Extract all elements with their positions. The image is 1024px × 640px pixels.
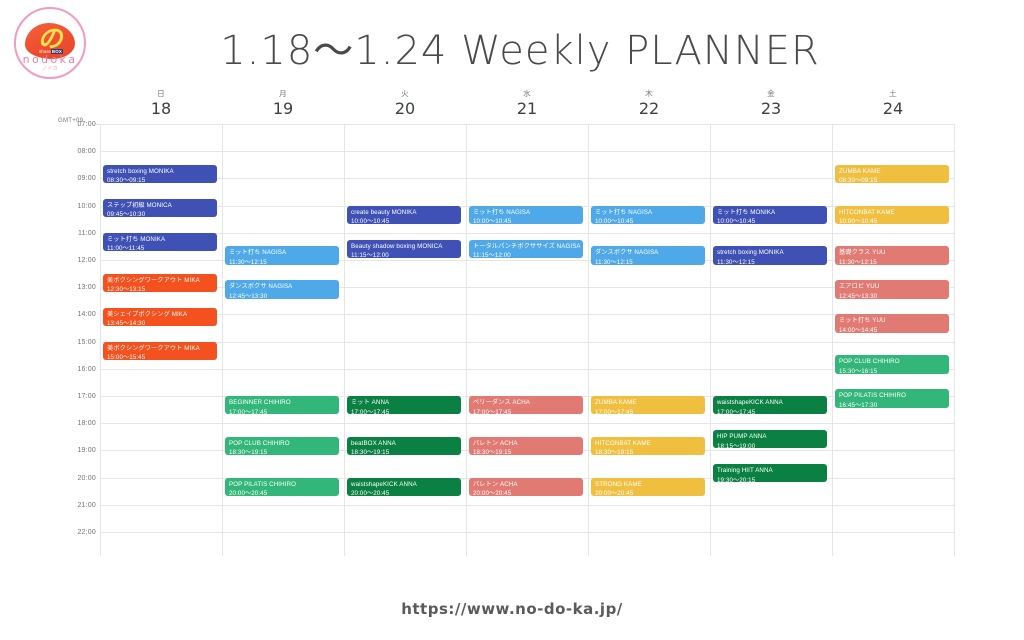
- calendar-event[interactable]: 美シェイプボクシング MIKA13:45〜14:30: [103, 308, 217, 326]
- day-header-row: 日18月19火20水21木22金23土24: [0, 88, 1024, 124]
- calendar-event[interactable]: ZUMBA KAME17:00〜17:45: [591, 396, 705, 414]
- calendar-event[interactable]: ミット ANNA17:00〜17:45: [347, 396, 461, 414]
- hour-label: 10:00: [52, 203, 96, 211]
- column-gridline: [222, 124, 223, 556]
- hour-label: 16:00: [52, 366, 96, 374]
- calendar-event[interactable]: create beauty MONIKA10:00〜10:45: [347, 206, 461, 224]
- event-time: 20:00〜20:45: [351, 489, 458, 496]
- event-title: Training HIIT ANNA: [717, 466, 824, 476]
- calendar-event[interactable]: POP CLUB CHIHIRO18:30〜19:15: [225, 437, 339, 455]
- calendar-event[interactable]: トータルパンチボクササイズ NAGISA11:15〜12:00: [469, 240, 583, 258]
- day-header[interactable]: 火20: [344, 88, 466, 119]
- day-number-label: 19: [222, 99, 344, 119]
- hour-gridline: [100, 314, 955, 315]
- event-title: beatBOX ANNA: [351, 439, 458, 449]
- hour-label: 13:00: [52, 284, 96, 292]
- hour-label: 07:00: [52, 121, 96, 129]
- event-title: ステップ初級 MONICA: [107, 201, 214, 211]
- event-title: 美シェイプボクシング MIKA: [107, 310, 214, 320]
- hour-label: 22:00: [52, 529, 96, 537]
- calendar-event[interactable]: ミット打ち NAGISA10:00〜10:45: [469, 206, 583, 224]
- calendar-event[interactable]: ダンスボクサ NAGISA12:45〜13:30: [225, 280, 339, 298]
- event-title: POP PILATIS CHIHIRO: [229, 480, 336, 490]
- calendar-event[interactable]: 美ボクシングワークアウト MIKA15:00〜15:45: [103, 342, 217, 360]
- event-title: バレトン ACHA: [473, 439, 580, 449]
- event-time: 18:30〜19:15: [351, 448, 458, 455]
- event-title: ダンスボクサ NAGISA: [595, 248, 702, 258]
- event-title: ミット打ち MONIKA: [717, 208, 824, 218]
- calendar-event[interactable]: BEGINNER CHIHIRO17:00〜17:45: [225, 396, 339, 414]
- calendar-event[interactable]: waistshapeKICK ANNA17:00〜17:45: [713, 396, 827, 414]
- calendar-event[interactable]: ベリーダンス ACHA17:00〜17:45: [469, 396, 583, 414]
- event-title: ミット打ち YUU: [839, 316, 946, 326]
- column-gridline: [100, 124, 101, 556]
- hour-label: 11:00: [52, 230, 96, 238]
- page-header: の shareBOX nodoka ノドカ 1.18〜1.24 Weekly P…: [0, 0, 1024, 88]
- column-gridline: [344, 124, 345, 556]
- event-time: 18:30〜19:15: [229, 448, 336, 455]
- event-title: POP CLUB CHIHIRO: [839, 357, 946, 367]
- event-title: create beauty MONIKA: [351, 208, 458, 218]
- day-of-week-label: 土: [832, 88, 954, 99]
- calendar-event[interactable]: 基礎クラス YUU11:30〜12:15: [835, 246, 949, 264]
- hour-gridline: [100, 342, 955, 343]
- event-time: 12:45〜13:30: [229, 292, 336, 299]
- event-time: 17:00〜17:45: [229, 408, 336, 415]
- calendar-event[interactable]: HITCONBAT KAME10:00〜10:45: [835, 206, 949, 224]
- day-of-week-label: 日: [100, 88, 222, 99]
- calendar-grid: 07:0008:0009:0010:0011:0012:0013:0014:00…: [0, 124, 1024, 568]
- day-number-label: 24: [832, 99, 954, 119]
- event-title: Beauty shadow boxing MONICA: [351, 242, 458, 252]
- calendar-event[interactable]: エアロビ YUU12:45〜13:30: [835, 280, 949, 298]
- event-time: 18:30〜19:15: [473, 448, 580, 455]
- logo-subtext: ノドカ: [16, 65, 84, 72]
- site-url: https://www.no-do-ka.jp/: [0, 600, 1024, 618]
- calendar-event[interactable]: ミット打ち MONIKA11:00〜11:45: [103, 233, 217, 251]
- event-time: 17:00〜17:45: [595, 408, 702, 415]
- hour-label: 08:00: [52, 148, 96, 156]
- hour-label: 14:00: [52, 311, 96, 319]
- calendar-event[interactable]: STRONG KAME20:00〜20:45: [591, 478, 705, 496]
- event-title: ZUMBA KAME: [595, 398, 702, 408]
- hour-gridline: [100, 233, 955, 234]
- event-title: waistshapeKICK ANNA: [717, 398, 824, 408]
- day-of-week-label: 木: [588, 88, 710, 99]
- event-time: 10:00〜10:45: [839, 217, 946, 224]
- calendar-event[interactable]: Beauty shadow boxing MONICA11:15〜12:00: [347, 240, 461, 258]
- event-title: 基礎クラス YUU: [839, 248, 946, 258]
- event-time: 08:30〜09:15: [107, 176, 214, 183]
- event-time: 13:45〜14:30: [107, 319, 214, 326]
- day-header[interactable]: 土24: [832, 88, 954, 119]
- hour-label: 17:00: [52, 393, 96, 401]
- event-time: 10:00〜10:45: [351, 217, 458, 224]
- event-title: BEGINNER CHIHIRO: [229, 398, 336, 408]
- event-time: 20:00〜20:45: [473, 489, 580, 496]
- event-title: stretch boxing MONIKA: [717, 248, 824, 258]
- event-title: ミット打ち NAGISA: [229, 248, 336, 258]
- hour-label: 15:00: [52, 339, 96, 347]
- event-time: 11:00〜11:45: [107, 244, 214, 251]
- event-title: 美ボクシングワークアウト MIKA: [107, 344, 214, 354]
- calendar-event[interactable]: POP CLUB CHIHIRO15:30〜16:15: [835, 355, 949, 373]
- calendar-event[interactable]: ステップ初級 MONICA09:45〜10:30: [103, 199, 217, 217]
- hour-label: 12:00: [52, 257, 96, 265]
- calendar-event[interactable]: ZUMBA KAME08:30〜09:15: [835, 165, 949, 183]
- event-time: 14:00〜14:45: [839, 326, 946, 333]
- event-title: STRONG KAME: [595, 480, 702, 490]
- event-title: HIP PUMP ANNA: [717, 432, 824, 442]
- event-title: ミット打ち NAGISA: [473, 208, 580, 218]
- hour-label: 19:00: [52, 447, 96, 455]
- event-title: ミット打ち MONIKA: [107, 235, 214, 245]
- event-title: ベリーダンス ACHA: [473, 398, 580, 408]
- day-number-label: 23: [710, 99, 832, 119]
- event-time: 09:45〜10:30: [107, 210, 214, 217]
- day-header[interactable]: 水21: [466, 88, 588, 119]
- calendar-event[interactable]: stretch boxing MONIKA11:30〜12:15: [713, 246, 827, 264]
- event-title: POP PILATIS CHIHIRO: [839, 391, 946, 401]
- day-number-label: 20: [344, 99, 466, 119]
- event-time: 11:30〜12:15: [595, 258, 702, 265]
- hour-gridline: [100, 369, 955, 370]
- day-number-label: 21: [466, 99, 588, 119]
- column-gridline: [466, 124, 467, 556]
- day-header[interactable]: 日18: [100, 88, 222, 119]
- event-time: 11:30〜12:15: [839, 258, 946, 265]
- page-title: 1.18〜1.24 Weekly PLANNER: [120, 18, 920, 76]
- event-title: エアロビ YUU: [839, 282, 946, 292]
- event-time: 15:00〜15:45: [107, 353, 214, 360]
- day-header[interactable]: 月19: [222, 88, 344, 119]
- hour-label: 21:00: [52, 502, 96, 510]
- event-title: ZUMBA KAME: [839, 167, 946, 177]
- event-time: 18:30〜19:15: [595, 448, 702, 455]
- calendar-event[interactable]: ダンスボクサ NAGISA11:30〜12:15: [591, 246, 705, 264]
- event-title: トータルパンチボクササイズ NAGISA: [473, 242, 580, 252]
- calendar-event[interactable]: ミット打ち MONIKA10:00〜10:45: [713, 206, 827, 224]
- hour-gridline: [100, 505, 955, 506]
- calendar-event[interactable]: HITCONBAT KAME18:30〜19:15: [591, 437, 705, 455]
- event-title: ミット打ち NAGISA: [595, 208, 702, 218]
- hour-label: 09:00: [52, 175, 96, 183]
- calendar-event[interactable]: バレトン ACHA20:00〜20:45: [469, 478, 583, 496]
- calendar-event[interactable]: POP PILATIS CHIHIRO20:00〜20:45: [225, 478, 339, 496]
- event-title: ダンスボクサ NAGISA: [229, 282, 336, 292]
- calendar-event[interactable]: Training HIIT ANNA19:30〜20:15: [713, 464, 827, 482]
- event-title: HITCONBAT KAME: [839, 208, 946, 218]
- event-time: 20:00〜20:45: [595, 489, 702, 496]
- calendar-event[interactable]: 美ボクシングワークアウト MIKA12:30〜13:15: [103, 274, 217, 292]
- weekly-calendar: 日18月19火20水21木22金23土24 GMT+09 07:0008:000…: [0, 88, 1024, 568]
- event-time: 10:00〜10:45: [473, 217, 580, 224]
- event-title: HITCONBAT KAME: [595, 439, 702, 449]
- event-title: stretch boxing MONIKA: [107, 167, 214, 177]
- event-time: 17:00〜17:45: [717, 408, 824, 415]
- day-header[interactable]: 金23: [710, 88, 832, 119]
- calendar-event[interactable]: ミット打ち NAGISA10:00〜10:45: [591, 206, 705, 224]
- hour-gridline: [100, 423, 955, 424]
- day-of-week-label: 金: [710, 88, 832, 99]
- hour-gridline: [100, 124, 955, 125]
- event-time: 17:00〜17:45: [473, 408, 580, 415]
- event-time: 16:45〜17:30: [839, 401, 946, 408]
- day-of-week-label: 火: [344, 88, 466, 99]
- event-time: 10:00〜10:45: [717, 217, 824, 224]
- calendar-event[interactable]: stretch boxing MONIKA08:30〜09:15: [103, 165, 217, 183]
- day-of-week-label: 水: [466, 88, 588, 99]
- event-time: 20:00〜20:45: [229, 489, 336, 496]
- event-title: ミット ANNA: [351, 398, 458, 408]
- day-number-label: 22: [588, 99, 710, 119]
- column-gridline: [954, 124, 955, 556]
- event-title: POP CLUB CHIHIRO: [229, 439, 336, 449]
- column-gridline: [588, 124, 589, 556]
- hour-gridline: [100, 151, 955, 152]
- column-gridline: [832, 124, 833, 556]
- hour-label: 20:00: [52, 475, 96, 483]
- event-time: 08:30〜09:15: [839, 176, 946, 183]
- nodoka-logo: の shareBOX nodoka ノドカ: [14, 7, 86, 79]
- day-header[interactable]: 木22: [588, 88, 710, 119]
- event-time: 11:15〜12:00: [473, 251, 580, 258]
- calendar-event[interactable]: waistshapeKICK ANNA20:00〜20:45: [347, 478, 461, 496]
- column-gridline: [710, 124, 711, 556]
- event-time: 11:30〜12:15: [717, 258, 824, 265]
- event-time: 18:15〜19:00: [717, 442, 824, 449]
- event-title: 美ボクシングワークアウト MIKA: [107, 276, 214, 286]
- calendar-event[interactable]: ミット打ち NAGISA11:30〜12:15: [225, 246, 339, 264]
- calendar-event[interactable]: beatBOX ANNA18:30〜19:15: [347, 437, 461, 455]
- calendar-event[interactable]: ミット打ち YUU14:00〜14:45: [835, 314, 949, 332]
- hour-gridline: [100, 532, 955, 533]
- hour-gridline: [100, 178, 955, 179]
- day-number-label: 18: [100, 99, 222, 119]
- event-title: waistshapeKICK ANNA: [351, 480, 458, 490]
- event-time: 12:45〜13:30: [839, 292, 946, 299]
- hour-label: 18:00: [52, 420, 96, 428]
- event-time: 19:30〜20:15: [717, 476, 824, 483]
- day-of-week-label: 月: [222, 88, 344, 99]
- event-title: バレトン ACHA: [473, 480, 580, 490]
- event-time: 10:00〜10:45: [595, 217, 702, 224]
- event-time: 15:30〜16:15: [839, 367, 946, 374]
- event-time: 11:15〜12:00: [351, 251, 458, 258]
- calendar-event[interactable]: HIP PUMP ANNA18:15〜19:00: [713, 430, 827, 448]
- event-time: 12:30〜13:15: [107, 285, 214, 292]
- calendar-event[interactable]: POP PILATIS CHIHIRO16:45〜17:30: [835, 389, 949, 407]
- calendar-event[interactable]: バレトン ACHA18:30〜19:15: [469, 437, 583, 455]
- event-time: 17:00〜17:45: [351, 408, 458, 415]
- event-time: 11:30〜12:15: [229, 258, 336, 265]
